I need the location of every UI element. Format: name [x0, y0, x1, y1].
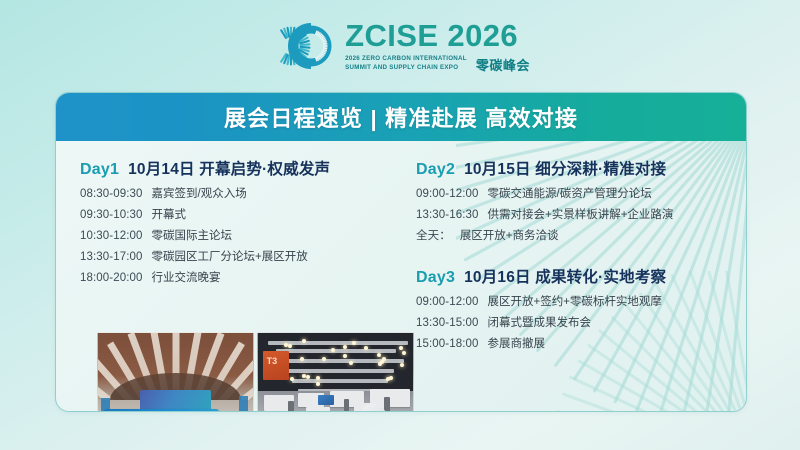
- item-desc: 参展商撤展: [488, 339, 546, 351]
- schedule-body: Day1 10月14日 开幕启势·权威发声 08:30-09:30 嘉宾签到/观…: [56, 141, 746, 411]
- photo-strip: ZCISE 2026 T3: [97, 332, 414, 412]
- item-desc: 闭幕式暨成果发布会: [488, 318, 592, 330]
- booth-column: [344, 399, 349, 412]
- expo-hall-photo: T3: [257, 332, 414, 412]
- item-time: 09:00-12:00: [416, 189, 479, 201]
- ceiling-light-bar: [292, 379, 388, 383]
- brand-text: ZCISE 2026 2026 ZERO CARBON INTERNATIONA…: [345, 20, 530, 73]
- item-time: 09:30-10:30: [80, 210, 143, 222]
- ceiling-spotlight: [288, 344, 292, 348]
- schedule-column-left: Day1 10月14日 开幕启势·权威发声 08:30-09:30 嘉宾签到/观…: [80, 141, 410, 294]
- ceiling-spotlight: [364, 346, 368, 350]
- poster-page: ZCISE 2026 2026 ZERO CARBON INTERNATIONA…: [0, 0, 800, 450]
- item-time: 09:00-12:00: [416, 297, 479, 309]
- subtitle-english-line1: 2026 ZERO CARBON INTERNATIONAL: [345, 55, 467, 64]
- item-time: 13:30-16:30: [416, 210, 479, 222]
- ceiling-spotlight: [377, 353, 381, 357]
- list-item: 13:30-17:00 零碳园区工厂分论坛+展区开放: [80, 252, 410, 264]
- item-desc: 供需对接会+实景样板讲解+企业路演: [488, 210, 674, 222]
- exhibition-booth: [306, 407, 330, 412]
- list-item: 09:00-12:00 零碳交通能源/碳资产管理分论坛: [416, 189, 726, 201]
- item-desc: 展区开放+商务洽谈: [460, 231, 559, 243]
- stage-logo-banner: ZCISE 2026: [104, 409, 219, 412]
- ceiling-spotlight: [300, 357, 304, 361]
- ceiling-spotlight: [352, 341, 356, 345]
- ceiling-light-bar: [276, 349, 396, 353]
- list-item: 09:30-10:30 开幕式: [80, 210, 410, 222]
- day-block-day3: Day3 10月16日 成果转化·实地考察 09:00-12:00 展区开放+签…: [416, 265, 726, 351]
- day1-title: 10月14日 开幕启势·权威发声: [128, 157, 330, 179]
- banner-title: 展会日程速览 | 精准赴展 高效对接: [224, 101, 578, 133]
- booth-screen: [318, 395, 334, 405]
- subtitle-english: 2026 ZERO CARBON INTERNATIONAL SUMMIT AN…: [345, 55, 467, 73]
- day3-title: 10月16日 成果转化·实地考察: [464, 265, 666, 287]
- wordmark: ZCISE 2026: [345, 20, 530, 51]
- item-time: 08:30-09:30: [80, 189, 143, 201]
- ceiling-spotlight: [349, 361, 353, 365]
- schedule-banner: 展会日程速览 | 精准赴展 高效对接: [56, 93, 746, 141]
- day3-heading: Day3 10月16日 成果转化·实地考察: [416, 265, 726, 287]
- day1-schedule-list: 08:30-09:30 嘉宾签到/观众入场 09:30-10:30 开幕式 10…: [80, 189, 410, 285]
- poster-header: ZCISE 2026 2026 ZERO CARBON INTERNATIONA…: [0, 0, 800, 92]
- list-item: 10:30-12:00 零碳国际主论坛: [80, 231, 410, 243]
- list-item: 13:30-15:00 闭幕式暨成果发布会: [416, 318, 726, 330]
- ceiling-spotlight: [382, 357, 386, 361]
- day3-tag: Day3: [416, 269, 455, 287]
- ceiling-spotlight: [402, 351, 406, 355]
- item-time: 13:30-15:00: [416, 318, 479, 330]
- subtitle-english-line2: SUMMIT AND SUPPLY CHAIN EXPO: [345, 64, 467, 73]
- ceiling-spotlight: [316, 376, 320, 380]
- day2-title: 10月15日 细分深耕·精准对接: [464, 157, 666, 179]
- item-time: 15:00-18:00: [416, 339, 479, 351]
- list-item: 15:00-18:00 参展商撤展: [416, 339, 726, 351]
- day2-schedule-list: 09:00-12:00 零碳交通能源/碳资产管理分论坛 13:30-16:30 …: [416, 189, 726, 243]
- item-time: 13:30-17:00: [80, 252, 143, 264]
- ceiling-spotlight: [399, 346, 403, 350]
- day2-heading: Day2 10月15日 细分深耕·精准对接: [416, 157, 726, 179]
- item-desc: 零碳交通能源/碳资产管理分论坛: [488, 189, 652, 201]
- brand-subtitle-row: 2026 ZERO CARBON INTERNATIONAL SUMMIT AN…: [345, 55, 530, 73]
- item-desc: 展区开放+签约+零碳标杆实地观摩: [488, 297, 662, 309]
- ceiling-spotlight: [389, 376, 393, 380]
- day1-heading: Day1 10月14日 开幕启势·权威发声: [80, 157, 410, 179]
- hall-banner-sign: T3: [263, 351, 289, 380]
- day2-tag: Day2: [416, 161, 455, 179]
- item-time: 10:30-12:00: [80, 231, 143, 243]
- list-item: 13:30-16:30 供需对接会+实景样板讲解+企业路演: [416, 210, 726, 222]
- item-desc: 行业交流晚宴: [152, 273, 221, 285]
- booth-column: [288, 401, 294, 412]
- venue-stage-photo: ZCISE 2026: [97, 332, 254, 412]
- list-item: 18:00-20:00 行业交流晚宴: [80, 273, 410, 285]
- item-desc: 零碳园区工厂分论坛+展区开放: [152, 252, 308, 264]
- ceiling-spotlight: [316, 382, 320, 386]
- banner-pillar-right: [239, 396, 248, 412]
- stage-platform: [123, 411, 228, 412]
- ceiling-spotlight: [378, 362, 382, 366]
- ceiling-spotlight: [331, 348, 335, 352]
- item-time: 全天：: [416, 231, 451, 243]
- list-item: 08:30-09:30 嘉宾签到/观众入场: [80, 189, 410, 201]
- zcise-circular-logo-icon: [270, 19, 332, 73]
- list-item: 全天： 展区开放+商务洽谈: [416, 231, 726, 243]
- day3-schedule-list: 09:00-12:00 展区开放+签约+零碳标杆实地观摩 13:30-15:00…: [416, 297, 726, 351]
- ceiling-spotlight: [343, 345, 347, 349]
- item-desc: 开幕式: [152, 210, 187, 222]
- day-block-day2: Day2 10月15日 细分深耕·精准对接 09:00-12:00 零碳交通能源…: [416, 157, 726, 243]
- schedule-column-right: Day2 10月15日 细分深耕·精准对接 09:00-12:00 零碳交通能源…: [416, 141, 726, 360]
- item-time: 18:00-20:00: [80, 273, 143, 285]
- schedule-card: 展会日程速览 | 精准赴展 高效对接 Day1 10月14日 开幕启势·权威发声…: [55, 92, 747, 412]
- day-block-day1: Day1 10月14日 开幕启势·权威发声 08:30-09:30 嘉宾签到/观…: [80, 157, 410, 285]
- list-item: 09:00-12:00 展区开放+签约+零碳标杆实地观摩: [416, 297, 726, 309]
- item-desc: 嘉宾签到/观众入场: [152, 189, 247, 201]
- ceiling-spotlight: [306, 375, 310, 379]
- ceiling-spotlight: [343, 354, 347, 358]
- ceiling-spotlight: [400, 363, 404, 367]
- subtitle-chinese: 零碳峰会: [476, 59, 530, 72]
- item-desc: 零碳国际主论坛: [152, 231, 233, 243]
- ceiling-light-bar: [284, 369, 394, 373]
- day1-tag: Day1: [80, 161, 119, 179]
- brand-lockup: ZCISE 2026 2026 ZERO CARBON INTERNATIONA…: [270, 19, 530, 73]
- hall-sign-label: T3: [267, 356, 278, 366]
